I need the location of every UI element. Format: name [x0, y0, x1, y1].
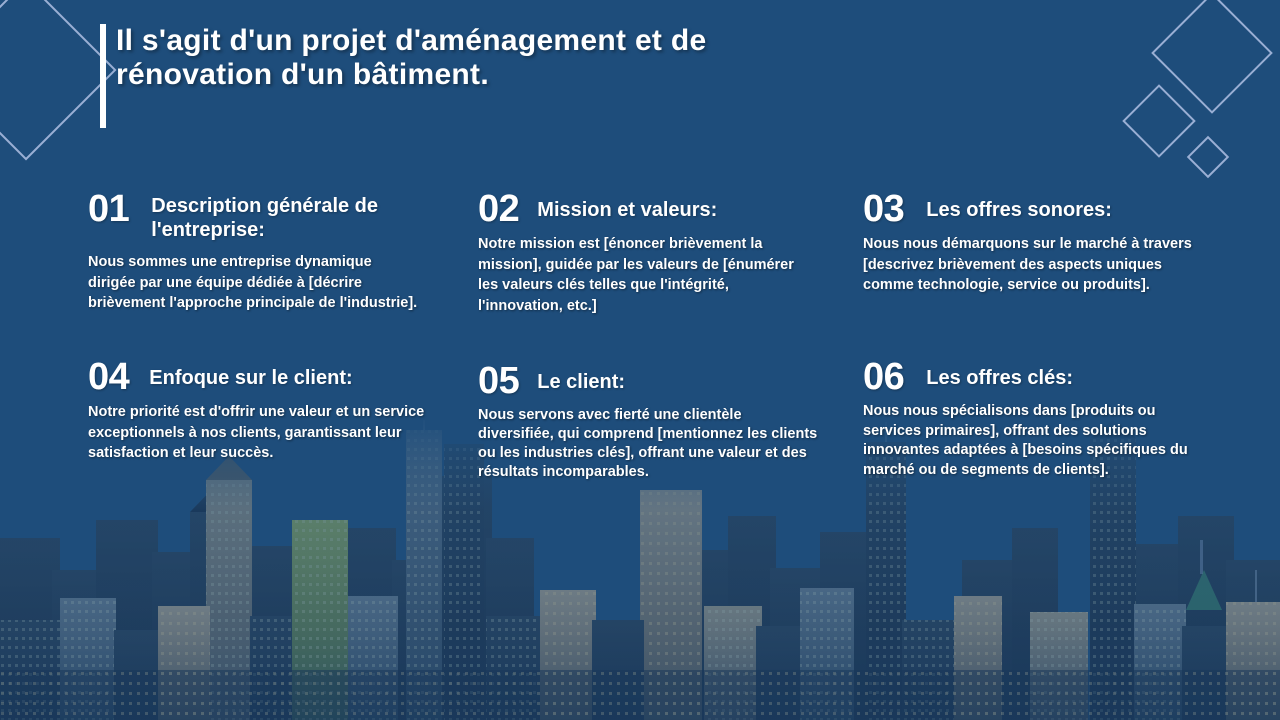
page-title: Il s'agit d'un projet d'aménagement et d…	[116, 24, 756, 91]
feature-item-02: 02 Mission et valeurs: Notre mission est…	[478, 190, 863, 316]
feature-item-06: 06 Les offres clés: Nous nous spécialiso…	[863, 358, 1248, 481]
title-accent-bar	[100, 24, 106, 128]
feature-item-02-title: Mission et valeurs:	[537, 190, 717, 222]
feature-item-05-header: 05 Le client:	[478, 362, 863, 400]
feature-item-04-header: 04 Enfoque sur le client:	[88, 358, 478, 396]
feature-item-03-body: Nous nous démarquons sur le marché à tra…	[863, 234, 1193, 296]
feature-item-02-header: 02 Mission et valeurs:	[478, 190, 863, 228]
feature-item-05: 05 Le client: Nous servons avec fierté u…	[478, 362, 863, 481]
feature-item-06-header: 06 Les offres clés:	[863, 358, 1248, 396]
feature-item-01-header: 01 Description générale de l'entreprise:	[88, 190, 478, 242]
feature-item-05-title: Le client:	[537, 362, 625, 394]
feature-item-03: 03 Les offres sonores: Nous nous démarqu…	[863, 190, 1248, 316]
feature-item-01-number: 01	[88, 190, 129, 228]
feature-item-05-body: Nous servons avec fierté une clientèle d…	[478, 406, 818, 481]
feature-item-01-title: Description générale de l'entreprise:	[151, 190, 426, 242]
feature-item-04-number: 04	[88, 358, 129, 396]
feature-item-06-title: Les offres clés:	[926, 358, 1073, 390]
feature-item-03-number: 03	[863, 190, 904, 228]
feature-item-06-body: Nous nous spécialisons dans [produits ou…	[863, 402, 1193, 480]
feature-item-05-number: 05	[478, 362, 519, 400]
feature-item-01: 01 Description générale de l'entreprise:…	[88, 190, 478, 316]
feature-item-03-title: Les offres sonores:	[926, 190, 1112, 222]
feature-item-01-body: Nous sommes une entreprise dynamique dir…	[88, 252, 418, 314]
feature-item-03-header: 03 Les offres sonores:	[863, 190, 1248, 228]
feature-item-02-body: Notre mission est [énoncer brièvement la…	[478, 234, 803, 316]
diamond-outline-medium	[1122, 84, 1196, 158]
feature-item-06-number: 06	[863, 358, 904, 396]
feature-item-04: 04 Enfoque sur le client: Notre priorité…	[88, 358, 478, 481]
feature-item-04-title: Enfoque sur le client:	[149, 358, 352, 390]
feature-item-02-number: 02	[478, 190, 519, 228]
feature-item-04-body: Notre priorité est d'offrir une valeur e…	[88, 402, 428, 464]
feature-items-grid: 01 Description générale de l'entreprise:…	[0, 190, 1280, 482]
diamond-outline-small	[1187, 136, 1229, 178]
slide-title-block: Il s'agit d'un projet d'aménagement et d…	[100, 24, 756, 128]
